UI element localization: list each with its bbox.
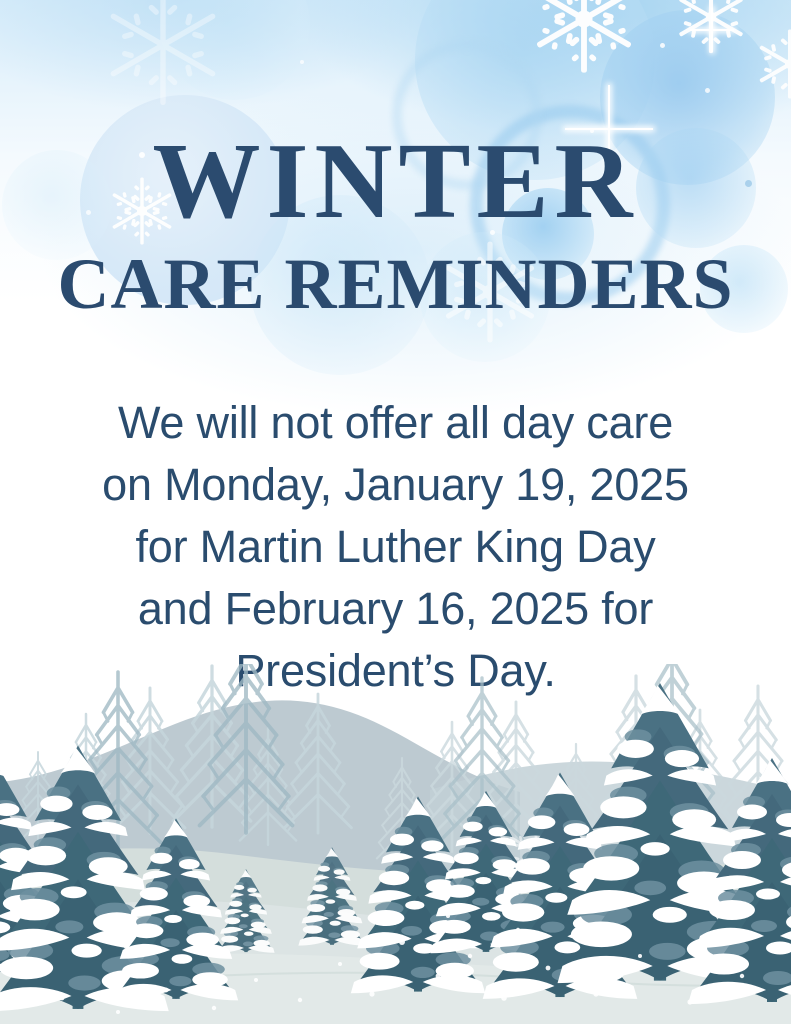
poster-title-primary: WINTER: [0, 128, 791, 236]
winter-announcement-poster: WINTER CARE REMINDERS We will not offer …: [0, 0, 791, 1024]
winter-forest-illustration: [0, 664, 791, 1024]
poster-title-secondary: CARE REMINDERS: [0, 248, 791, 320]
poster-body-message: We will not offer all day care on Monday…: [95, 392, 696, 702]
